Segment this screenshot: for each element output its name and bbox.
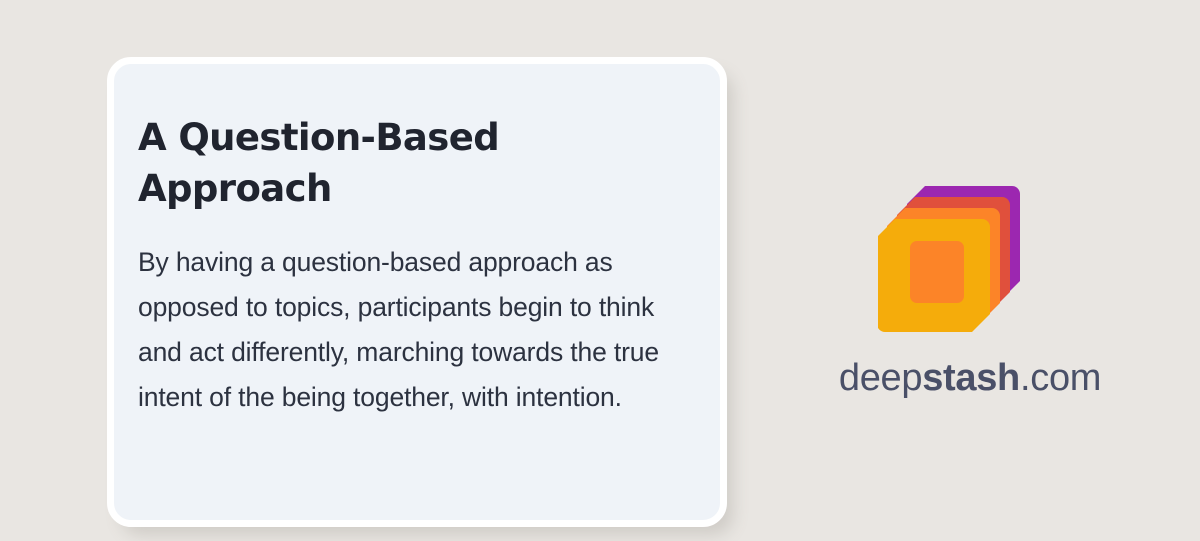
screenshot-stage: A Question-Based Approach By having a qu… — [0, 0, 1200, 541]
wordmark-emphasis: stash — [922, 357, 1020, 399]
page-title: A Question-Based Approach — [138, 112, 558, 214]
quote-card-content: A Question-Based Approach By having a qu… — [138, 112, 698, 420]
deepstash-wordmark: deepstash.com — [800, 356, 1140, 400]
stacked-cubes-icon — [878, 182, 1028, 332]
brand-block: deepstash.com — [800, 160, 1140, 410]
quote-body-text: By having a question-based approach as o… — [138, 214, 698, 420]
wordmark-suffix: .com — [1020, 357, 1101, 399]
deepstash-logo — [878, 182, 1028, 332]
wordmark-prefix: deep — [839, 357, 922, 399]
quote-card: A Question-Based Approach By having a qu… — [107, 57, 727, 527]
